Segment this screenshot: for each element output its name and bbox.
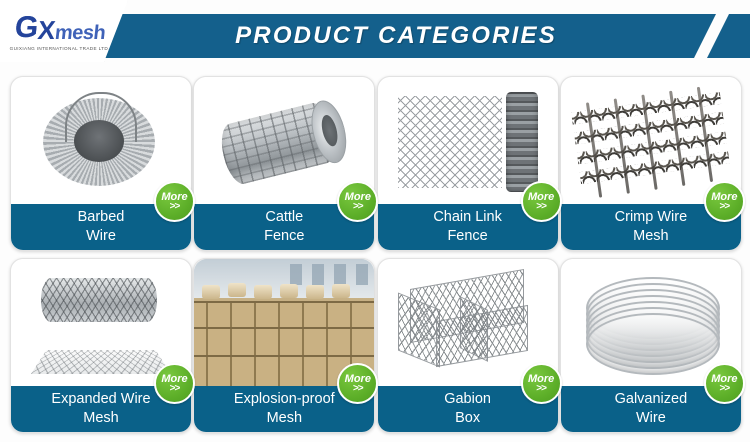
page-header: PRODUCT CATEGORIES GXmesh GUIXIANG INTER… [0, 0, 750, 72]
more-button[interactable]: More >> [704, 363, 745, 404]
category-card-galvanized-wire[interactable]: Galvanized Wire More >> [560, 258, 742, 433]
more-arrow-icon: >> [353, 384, 363, 393]
category-label-line2: Box [455, 409, 480, 428]
category-label-line1: Gabion [444, 390, 491, 409]
logo-subtitle: GUIXIANG INTERNATIONAL TRADE LTD. [10, 46, 110, 51]
category-grid: Barbed Wire More >> Cattle [10, 76, 740, 436]
more-arrow-icon: >> [536, 384, 546, 393]
category-card-chain-link-fence[interactable]: Chain Link Fence More >> [377, 76, 559, 251]
category-label-line2: Mesh [83, 409, 118, 428]
header-banner-accent [707, 14, 750, 58]
category-label-line1: Barbed [78, 208, 125, 227]
category-label-line1: Expanded Wire [51, 390, 150, 409]
more-button[interactable]: More >> [337, 363, 378, 404]
product-categories-page: PRODUCT CATEGORIES GXmesh GUIXIANG INTER… [0, 0, 750, 442]
category-label-line2: Mesh [633, 227, 668, 246]
more-button[interactable]: More >> [521, 363, 562, 404]
category-card-gabion-box[interactable]: Gabion Box More >> [377, 258, 559, 433]
logo-word-mesh: mesh [54, 23, 106, 43]
category-label-line1: Galvanized [615, 390, 688, 409]
category-label-line1: Crimp Wire [615, 208, 688, 227]
page-title: PRODUCT CATEGORIES [96, 14, 716, 58]
more-button[interactable]: More >> [521, 181, 562, 222]
category-card-expanded-wire-mesh[interactable]: Expanded Wire Mesh More >> [10, 258, 192, 433]
more-button[interactable]: More >> [704, 181, 745, 222]
category-label-line2: Mesh [267, 409, 302, 428]
more-arrow-icon: >> [353, 202, 363, 211]
logo-wordmark: GXmesh [15, 13, 105, 43]
more-arrow-icon: >> [536, 202, 546, 211]
header-banner: PRODUCT CATEGORIES [96, 14, 716, 58]
more-button[interactable]: More >> [337, 181, 378, 222]
category-label-line2: Fence [264, 227, 304, 246]
category-label-line1: Chain Link [433, 208, 502, 227]
more-arrow-icon: >> [170, 384, 180, 393]
more-arrow-icon: >> [720, 384, 730, 393]
category-label-line2: Wire [86, 227, 116, 246]
logo-letter-x: X [37, 17, 57, 43]
category-card-barbed-wire[interactable]: Barbed Wire More >> [10, 76, 192, 251]
category-label-line1: Explosion-proof [234, 390, 335, 409]
more-arrow-icon: >> [720, 202, 730, 211]
category-label-line2: Fence [447, 227, 487, 246]
more-button[interactable]: More >> [154, 181, 195, 222]
logo-letter-g: G [13, 13, 39, 43]
category-card-explosion-proof-mesh[interactable]: Explosion-proof Mesh More >> [193, 258, 375, 433]
category-label-line2: Wire [636, 409, 666, 428]
category-card-crimp-wire-mesh[interactable]: Crimp Wire Mesh More >> [560, 76, 742, 251]
category-label-line1: Cattle [265, 208, 303, 227]
category-card-cattle-fence[interactable]: Cattle Fence More >> [193, 76, 375, 251]
more-arrow-icon: >> [170, 202, 180, 211]
more-button[interactable]: More >> [154, 363, 195, 404]
